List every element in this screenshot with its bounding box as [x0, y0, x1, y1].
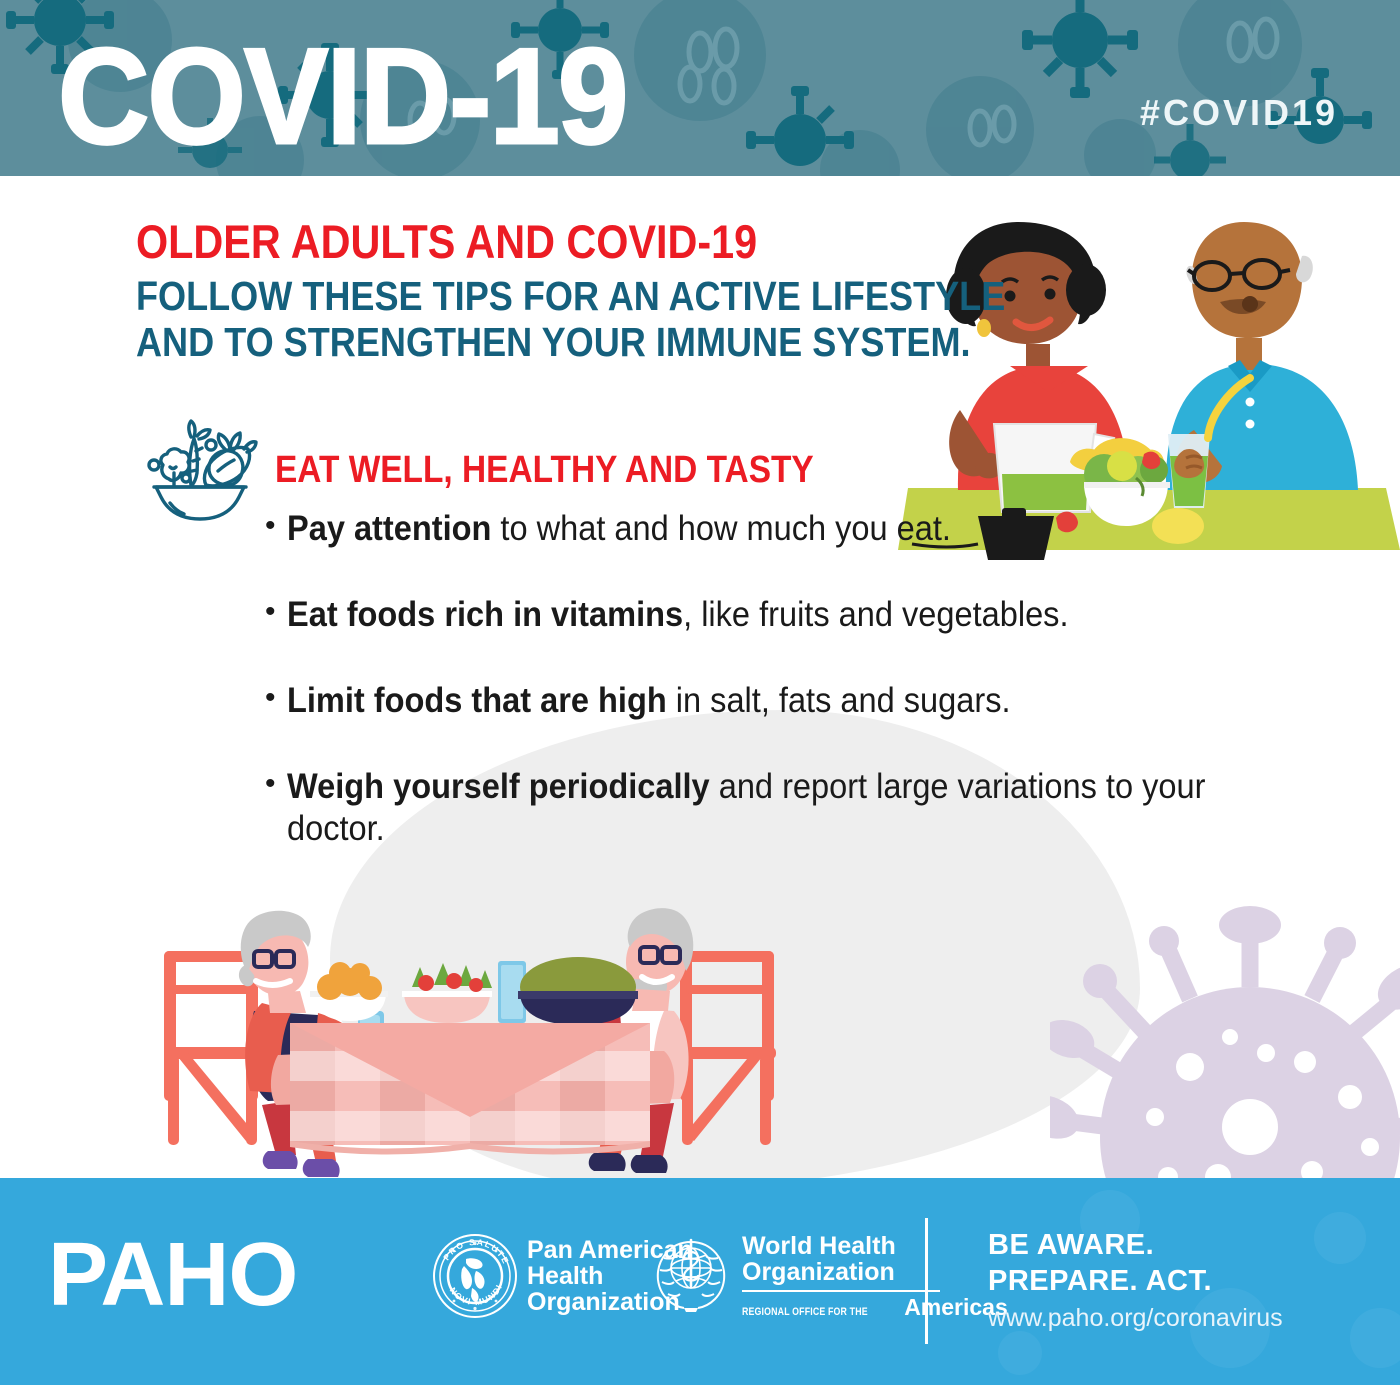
who-emblem-icon: [648, 1228, 734, 1314]
footer-tagline-block: BE AWARE. PREPARE. ACT. www.paho.org/cor…: [988, 1228, 1283, 1333]
who-divider-rule: [742, 1290, 940, 1292]
header-banner: COVID-19 #COVID19: [0, 0, 1400, 176]
chair-right: [676, 951, 776, 1145]
who-name-line-1: World Health: [742, 1233, 1008, 1259]
list-item: • Eat foods rich in vitamins, like fruit…: [265, 594, 1275, 636]
who-organization-block: World Health Organization REGIONAL OFFIC…: [742, 1228, 1008, 1321]
man-figure: [1166, 222, 1358, 508]
section-title: EAT WELL, HEALTHY AND TASTY: [275, 449, 814, 492]
who-logo-lockup: World Health Organization REGIONAL OFFIC…: [648, 1228, 1008, 1321]
list-item: • Limit foods that are high in salt, fat…: [265, 680, 1275, 722]
bullet-text: Weigh yourself periodically and report l…: [287, 766, 1206, 850]
virus-decor-icon: [1050, 877, 1400, 1207]
tagline-line-1: BE AWARE.: [988, 1228, 1283, 1264]
paho-wordmark: PAHO: [48, 1230, 297, 1320]
headline-teal-line-2: AND TO STRENGTHEN YOUR IMMUNE SYSTEM.: [136, 320, 1005, 366]
bullet-marker-icon: •: [265, 680, 276, 715]
page-title: COVID-19: [58, 28, 626, 164]
headline-block: OLDER ADULTS AND COVID-19 FOLLOW THESE T…: [136, 218, 1124, 366]
footer-divider: [925, 1218, 928, 1344]
bullet-rest: in salt, fats and sugars.: [666, 681, 1010, 720]
tips-list: • Pay attention to what and how much you…: [265, 508, 1275, 894]
bullet-marker-icon: •: [265, 508, 276, 543]
bullet-bold: Eat foods rich in vitamins: [287, 595, 683, 634]
headline-red: OLDER ADULTS AND COVID-19: [136, 218, 1005, 267]
list-item: • Pay attention to what and how much you…: [265, 508, 1275, 550]
bullet-bold: Limit foods that are high: [287, 681, 667, 720]
footer-bar: PAHO PRO SALUTE NOVI MUNDI: [0, 1178, 1400, 1385]
salad-bowl-vegetables-icon: [136, 415, 261, 525]
covid19-older-adults-infographic: COVID-19 #COVID19: [0, 0, 1400, 1385]
bullet-rest: to what and how much you eat.: [491, 509, 951, 548]
elderly-couple-eating-illustration: [150, 855, 790, 1185]
who-region-prefix: REGIONAL OFFICE FOR THE: [742, 1306, 868, 1318]
hashtag-label: #COVID19: [1140, 92, 1338, 134]
table-food: [310, 957, 638, 1025]
tablecloth: [290, 1023, 650, 1155]
bullet-text: Limit foods that are high in salt, fats …: [287, 680, 1011, 722]
bullet-text: Pay attention to what and how much you e…: [287, 508, 951, 550]
headline-teal: FOLLOW THESE TIPS FOR AN ACTIVE LIFESTYL…: [136, 274, 1005, 366]
headline-teal-line-1: FOLLOW THESE TIPS FOR AN ACTIVE LIFESTYL…: [136, 274, 1005, 320]
bullet-rest: , like fruits and vegetables.: [683, 595, 1068, 634]
footer-url[interactable]: www.paho.org/coronavirus: [988, 1304, 1283, 1333]
list-item: • Weigh yourself periodically and report…: [265, 766, 1275, 850]
paho-seal-icon: PRO SALUTE NOVI MUNDI: [432, 1233, 518, 1319]
bullet-bold: Weigh yourself periodically: [287, 767, 710, 806]
bullet-marker-icon: •: [265, 766, 276, 801]
tagline-line-2: PREPARE. ACT.: [988, 1264, 1283, 1300]
who-region-line: REGIONAL OFFICE FOR THE Americas: [742, 1294, 1008, 1321]
bullet-marker-icon: •: [265, 594, 276, 629]
bullet-text: Eat foods rich in vitamins, like fruits …: [287, 594, 1069, 636]
who-name-line-2: Organization: [742, 1259, 1008, 1285]
bullet-bold: Pay attention: [287, 509, 491, 548]
